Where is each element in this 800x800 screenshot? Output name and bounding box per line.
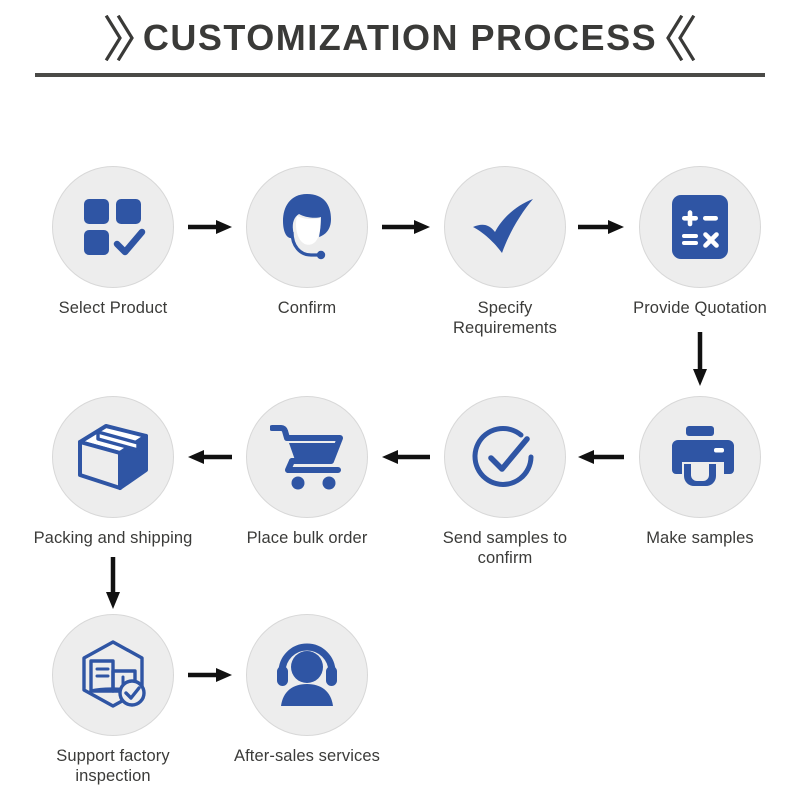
icon-circle xyxy=(52,166,174,288)
arrow-connector-right-4 xyxy=(188,666,232,684)
arrow-connector-right-3 xyxy=(578,218,624,236)
circle-check-icon xyxy=(469,421,541,493)
arrow-connector-right-2 xyxy=(382,218,430,236)
flow-step-label: Place bulk order xyxy=(227,528,387,548)
flow-step-label: Confirm xyxy=(227,298,387,318)
shopping-cart-icon xyxy=(270,423,344,491)
arrow-connector-left-2 xyxy=(382,448,430,466)
package-box-icon xyxy=(76,422,150,492)
flow-step-label: Provide Quotation xyxy=(620,298,780,318)
icon-circle xyxy=(246,396,368,518)
flow-step-label: After-sales services xyxy=(227,746,387,766)
flow-step-label: Support factory inspection xyxy=(33,746,193,786)
icon-circle xyxy=(639,396,761,518)
flow-step-label: Packing and shipping xyxy=(33,528,193,548)
flow-step-make-samples[interactable]: Make samples xyxy=(620,396,780,548)
headset-person-icon xyxy=(270,642,344,708)
flow-step-place-bulk-order[interactable]: Place bulk order xyxy=(227,396,387,548)
checkmark-icon xyxy=(469,191,541,263)
arrow-connector-down-left xyxy=(104,557,122,609)
icon-circle xyxy=(52,396,174,518)
headset-agent-icon xyxy=(270,190,344,264)
process-flow: Select Product Confirm Specify Requireme… xyxy=(0,0,800,800)
icon-circle xyxy=(444,166,566,288)
icon-circle xyxy=(444,396,566,518)
flow-step-specify-requirements[interactable]: Specify Requirements xyxy=(425,166,585,338)
grid-check-icon xyxy=(80,194,146,260)
flow-step-send-samples-to-confirm[interactable]: Send samples to confirm xyxy=(425,396,585,568)
flow-step-label: Specify Requirements xyxy=(425,298,585,338)
calculator-icon xyxy=(669,192,731,262)
flow-step-provide-quotation[interactable]: Provide Quotation xyxy=(620,166,780,318)
flow-step-label: Select Product xyxy=(33,298,193,318)
flow-step-confirm[interactable]: Confirm xyxy=(227,166,387,318)
flow-step-label: Send samples to confirm xyxy=(425,528,585,568)
flow-step-label: Make samples xyxy=(620,528,780,548)
factory-verified-icon xyxy=(77,639,149,711)
arrow-connector-left-1 xyxy=(578,448,624,466)
flow-step-after-sales-services[interactable]: After-sales services xyxy=(227,614,387,766)
arrow-connector-down-right xyxy=(691,332,709,386)
printer-icon xyxy=(664,424,736,490)
arrow-connector-right-1 xyxy=(188,218,232,236)
flow-step-support-factory-inspection[interactable]: Support factory inspection xyxy=(33,614,193,786)
flow-step-select-product[interactable]: Select Product xyxy=(33,166,193,318)
icon-circle xyxy=(639,166,761,288)
icon-circle xyxy=(52,614,174,736)
flow-step-packing-and-shipping[interactable]: Packing and shipping xyxy=(33,396,193,548)
icon-circle xyxy=(246,614,368,736)
arrow-connector-left-3 xyxy=(188,448,232,466)
icon-circle xyxy=(246,166,368,288)
